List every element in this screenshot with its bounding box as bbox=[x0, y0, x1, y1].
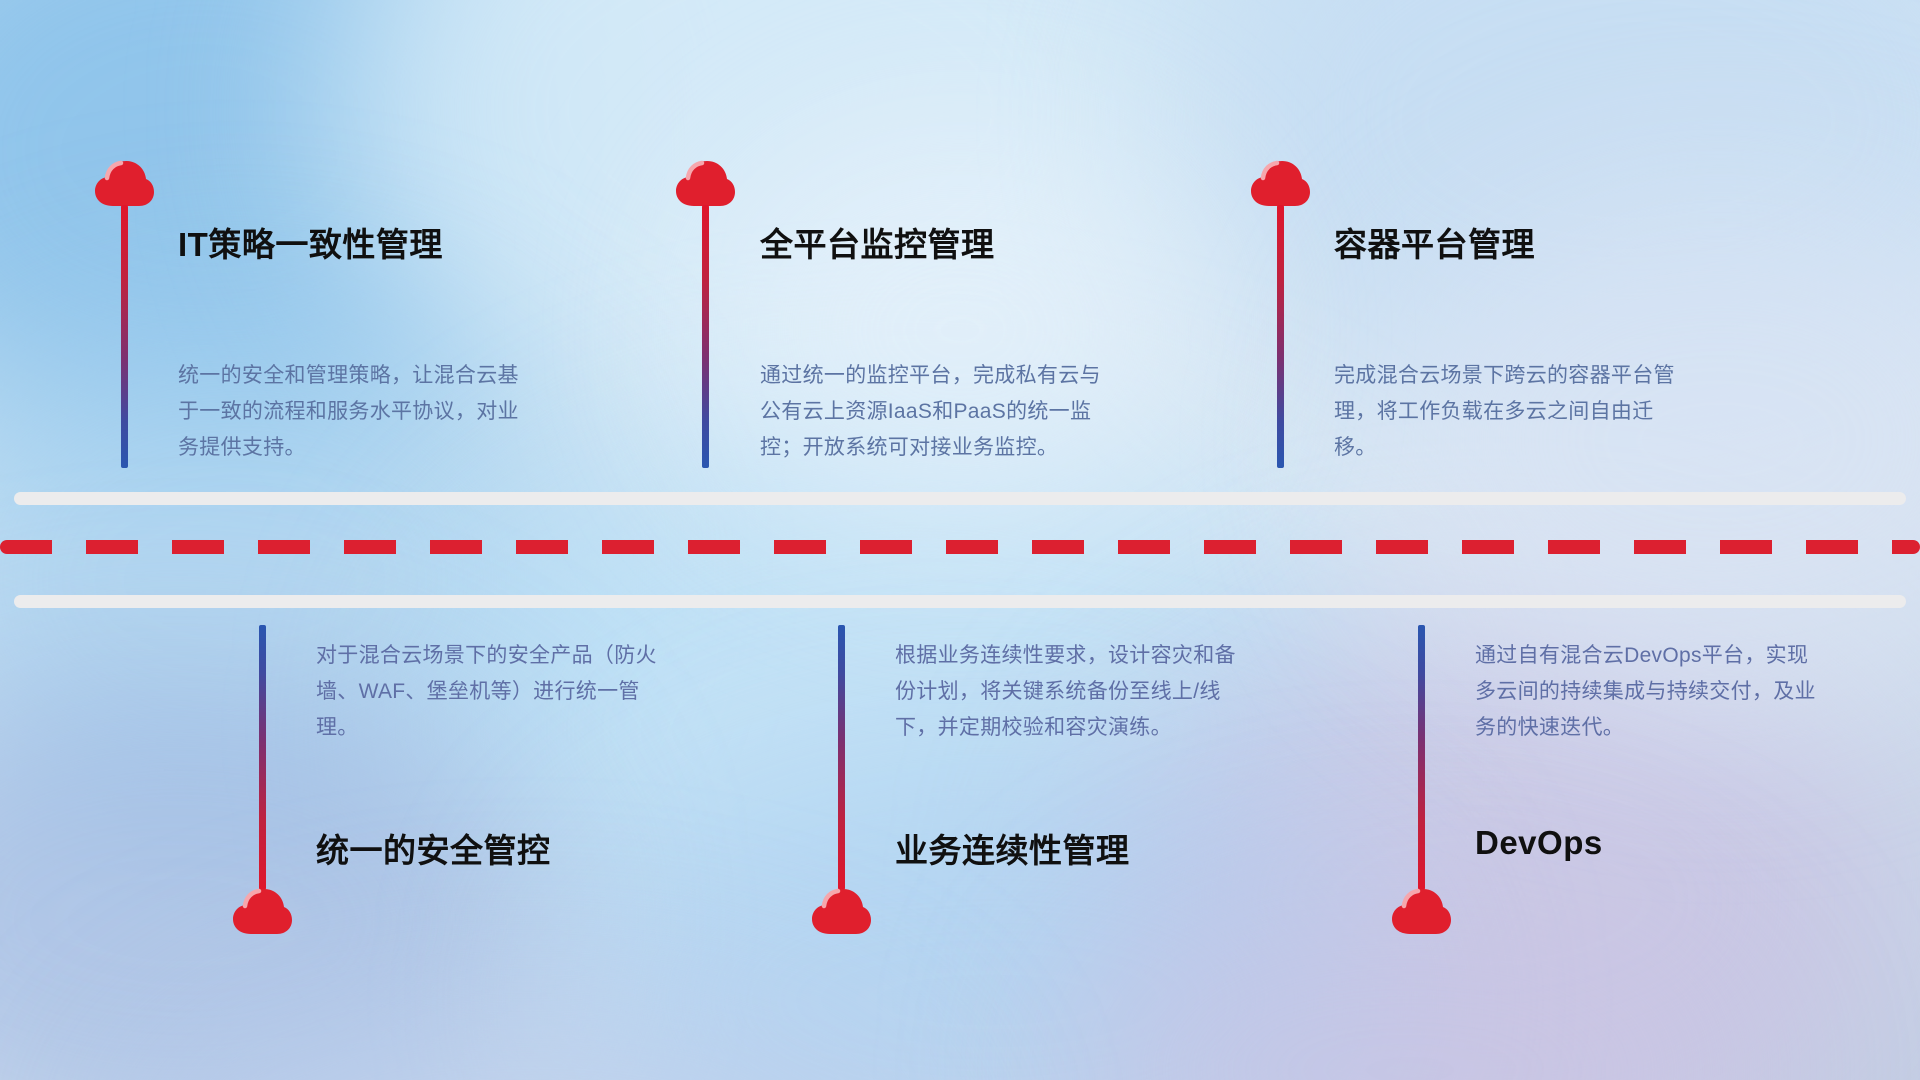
bottom-column-1-heading: 统一的安全管控 bbox=[316, 824, 551, 872]
divider-rail-top bbox=[14, 492, 1906, 505]
cloud-icon bbox=[1249, 160, 1311, 208]
top-column-2-heading: 全平台监控管理 bbox=[760, 218, 995, 266]
bottom-column-1-paragraph: 对于混合云场景下的安全产品（防火墙、WAF、堡垒机等）进行统一管理。 bbox=[316, 638, 661, 746]
connector-stem bbox=[702, 205, 709, 468]
connector-stem bbox=[121, 205, 128, 468]
connector-stem bbox=[1277, 205, 1284, 468]
top-column-3-heading: 容器平台管理 bbox=[1334, 218, 1535, 266]
infographic-canvas: IT策略一致性管理 统一的安全和管理策略，让混合云基于一致的流程和服务水平协议，… bbox=[0, 0, 1920, 1080]
bottom-column-3-paragraph: 通过自有混合云DevOps平台，实现多云间的持续集成与持续交付，及业务的快速迭代… bbox=[1475, 638, 1820, 746]
bottom-column-2-paragraph: 根据业务连续性要求，设计容灾和备份计划，将关键系统备份至线上/线下，并定期校验和… bbox=[895, 638, 1240, 746]
cloud-icon bbox=[231, 888, 293, 936]
top-column-1-heading: IT策略一致性管理 bbox=[178, 218, 443, 266]
bottom-column-3-heading: DevOps bbox=[1475, 824, 1603, 862]
connector-stem bbox=[259, 625, 266, 890]
bottom-column-2-heading: 业务连续性管理 bbox=[895, 824, 1130, 872]
cloud-icon bbox=[93, 160, 155, 208]
divider-rail-bottom bbox=[14, 595, 1906, 608]
divider-dashed-line bbox=[0, 540, 1920, 554]
cloud-icon bbox=[1390, 888, 1452, 936]
background-blob bbox=[700, 120, 1220, 540]
connector-stem bbox=[1418, 625, 1425, 890]
hybrid-cloud-boundary-divider bbox=[0, 480, 1920, 610]
top-column-1-paragraph: 统一的安全和管理策略，让混合云基于一致的流程和服务水平协议，对业务提供支持。 bbox=[178, 358, 523, 466]
connector-stem bbox=[838, 625, 845, 890]
cloud-icon bbox=[810, 888, 872, 936]
top-column-2-paragraph: 通过统一的监控平台，完成私有云与公有云上资源IaaS和PaaS的统一监控；开放系… bbox=[760, 358, 1105, 466]
cloud-icon bbox=[674, 160, 736, 208]
top-column-3-paragraph: 完成混合云场景下跨云的容器平台管理，将工作负载在多云之间自由迁移。 bbox=[1334, 358, 1679, 466]
